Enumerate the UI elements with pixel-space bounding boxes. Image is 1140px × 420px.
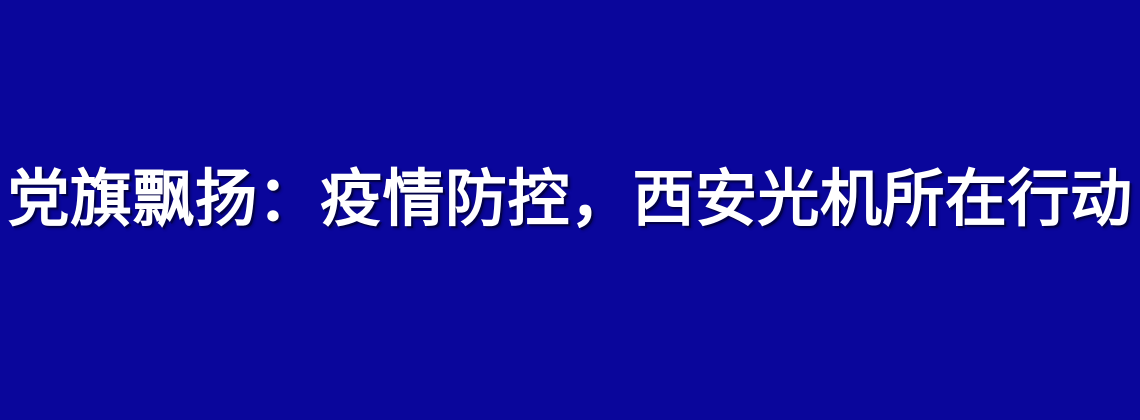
page-title: 党旗飘扬：疫情防控，西安光机所在行动 — [0, 168, 1140, 230]
banner-canvas: 党旗飘扬：疫情防控，西安光机所在行动 — [0, 0, 1140, 420]
